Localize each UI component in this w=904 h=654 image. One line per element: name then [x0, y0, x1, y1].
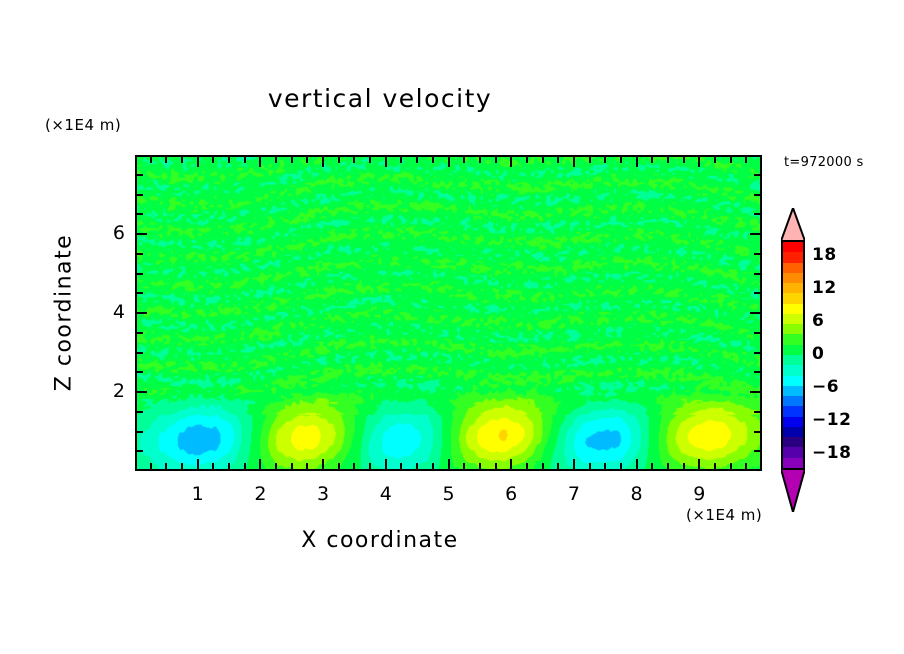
x-tick: [275, 463, 277, 469]
x-tick-top: [400, 157, 402, 163]
y-tick: [137, 411, 143, 413]
x-tick-top: [244, 157, 246, 163]
y-axis-title: Z coordinate: [52, 213, 77, 413]
x-tick-top: [322, 157, 324, 167]
x-tick: [322, 459, 324, 469]
y-tick-label: 2: [85, 380, 125, 402]
x-tick: [526, 463, 528, 469]
x-tick: [698, 459, 700, 469]
x-tick: [589, 463, 591, 469]
x-tick: [557, 463, 559, 469]
y-tick: [137, 213, 143, 215]
y-tick: [137, 450, 143, 452]
colorbar[interactable]: [781, 240, 805, 470]
x-tick-top: [557, 157, 559, 163]
x-tick-top: [165, 157, 167, 163]
x-tick: [150, 463, 152, 469]
y-tick: [137, 253, 143, 255]
y-tick-right: [754, 371, 760, 373]
x-tick-top: [275, 157, 277, 163]
y-tick: [137, 332, 143, 334]
y-tick-right: [754, 411, 760, 413]
x-tick-top: [589, 157, 591, 163]
y-tick-right: [754, 273, 760, 275]
colorbar-tick-label: −6: [812, 377, 839, 397]
x-tick: [416, 463, 418, 469]
x-tick: [385, 459, 387, 469]
x-tick: [306, 463, 308, 469]
x-tick-top: [338, 157, 340, 163]
x-tick-top: [698, 157, 700, 167]
y-tick: [137, 233, 147, 235]
y-tick: [137, 371, 143, 373]
y-tick-right: [750, 391, 760, 393]
x-tick: [291, 463, 293, 469]
x-tick: [604, 463, 606, 469]
x-tick: [197, 459, 199, 469]
colorbar-tick-label: 18: [812, 245, 837, 265]
x-tick-top: [745, 157, 747, 163]
y-tick-right: [754, 332, 760, 334]
x-tick-top: [385, 157, 387, 167]
x-tick-label: 5: [429, 483, 469, 505]
x-tick-top: [353, 157, 355, 163]
contour-plot-area: [135, 155, 762, 471]
y-tick: [137, 352, 143, 354]
y-tick-right: [754, 213, 760, 215]
colorbar-tick-label: −12: [812, 410, 851, 430]
x-tick-top: [683, 157, 685, 163]
y-tick: [137, 292, 143, 294]
x-tick-top: [306, 157, 308, 163]
x-tick: [369, 463, 371, 469]
x-tick: [730, 463, 732, 469]
x-tick: [212, 463, 214, 469]
y-tick: [137, 431, 143, 433]
x-tick-top: [416, 157, 418, 163]
x-tick-label: 6: [491, 483, 531, 505]
y-tick: [137, 174, 143, 176]
x-tick: [448, 459, 450, 469]
x-tick: [400, 463, 402, 469]
y-tick: [137, 312, 147, 314]
x-tick-top: [259, 157, 261, 167]
y-axis-unit: (×1E4 m): [45, 116, 121, 134]
x-tick: [259, 459, 261, 469]
x-axis-title: X coordinate: [0, 528, 760, 553]
x-tick-top: [714, 157, 716, 163]
x-tick-top: [495, 157, 497, 163]
x-tick-top: [448, 157, 450, 167]
x-tick-top: [212, 157, 214, 163]
colorbar-band: [783, 458, 803, 470]
x-tick-top: [730, 157, 732, 163]
x-tick-label: 2: [240, 483, 280, 505]
x-tick: [542, 463, 544, 469]
colorbar-tick-label: 0: [812, 344, 824, 364]
x-tick-top: [197, 157, 199, 167]
y-tick-right: [754, 431, 760, 433]
x-tick: [573, 459, 575, 469]
x-tick-top: [432, 157, 434, 163]
y-tick-right: [754, 174, 760, 176]
x-tick: [479, 463, 481, 469]
x-tick: [745, 463, 747, 469]
x-tick: [714, 463, 716, 469]
y-tick-right: [754, 194, 760, 196]
x-tick: [510, 459, 512, 469]
x-tick-label: 4: [366, 483, 406, 505]
x-tick-top: [542, 157, 544, 163]
colorbar-tick-label: −18: [812, 443, 851, 463]
x-tick-top: [510, 157, 512, 167]
x-tick: [244, 463, 246, 469]
x-tick-top: [620, 157, 622, 163]
x-tick-top: [369, 157, 371, 163]
x-tick-label: 7: [554, 483, 594, 505]
y-tick: [137, 391, 147, 393]
x-tick-label: 9: [679, 483, 719, 505]
velocity-field: [137, 157, 760, 469]
x-tick: [228, 463, 230, 469]
x-tick-top: [150, 157, 152, 163]
x-tick-top: [651, 157, 653, 163]
y-tick-label: 4: [85, 301, 125, 323]
x-tick-top: [479, 157, 481, 163]
y-tick-right: [754, 253, 760, 255]
x-tick: [432, 463, 434, 469]
x-tick: [651, 463, 653, 469]
x-axis-unit: (×1E4 m): [686, 506, 762, 524]
y-tick-label: 6: [85, 222, 125, 244]
x-tick-top: [463, 157, 465, 163]
chart-title: vertical velocity: [0, 84, 760, 113]
colorbar-top-cap: [781, 208, 805, 241]
x-tick: [636, 459, 638, 469]
colorbar-bottom-cap: [781, 469, 805, 512]
y-tick: [137, 273, 143, 275]
x-tick-top: [604, 157, 606, 163]
colorbar-tick-label: 6: [812, 311, 824, 331]
x-tick-top: [667, 157, 669, 163]
x-tick: [165, 463, 167, 469]
y-tick-right: [754, 450, 760, 452]
y-tick-right: [750, 312, 760, 314]
timestamp-label: t=972000 s: [784, 155, 864, 170]
x-tick: [338, 463, 340, 469]
x-tick-top: [291, 157, 293, 163]
y-tick-right: [754, 352, 760, 354]
x-tick: [463, 463, 465, 469]
y-tick-right: [750, 233, 760, 235]
colorbar-tick-label: 12: [812, 278, 837, 298]
x-tick-label: 8: [617, 483, 657, 505]
x-tick: [181, 463, 183, 469]
x-tick: [353, 463, 355, 469]
x-tick-label: 1: [178, 483, 218, 505]
x-tick: [495, 463, 497, 469]
x-tick-top: [526, 157, 528, 163]
x-tick: [683, 463, 685, 469]
x-tick-top: [228, 157, 230, 163]
x-tick-top: [181, 157, 183, 163]
x-tick-label: 3: [303, 483, 343, 505]
x-tick: [620, 463, 622, 469]
y-tick-right: [754, 292, 760, 294]
x-tick: [667, 463, 669, 469]
x-tick-top: [636, 157, 638, 167]
x-tick-top: [573, 157, 575, 167]
y-tick: [137, 194, 143, 196]
